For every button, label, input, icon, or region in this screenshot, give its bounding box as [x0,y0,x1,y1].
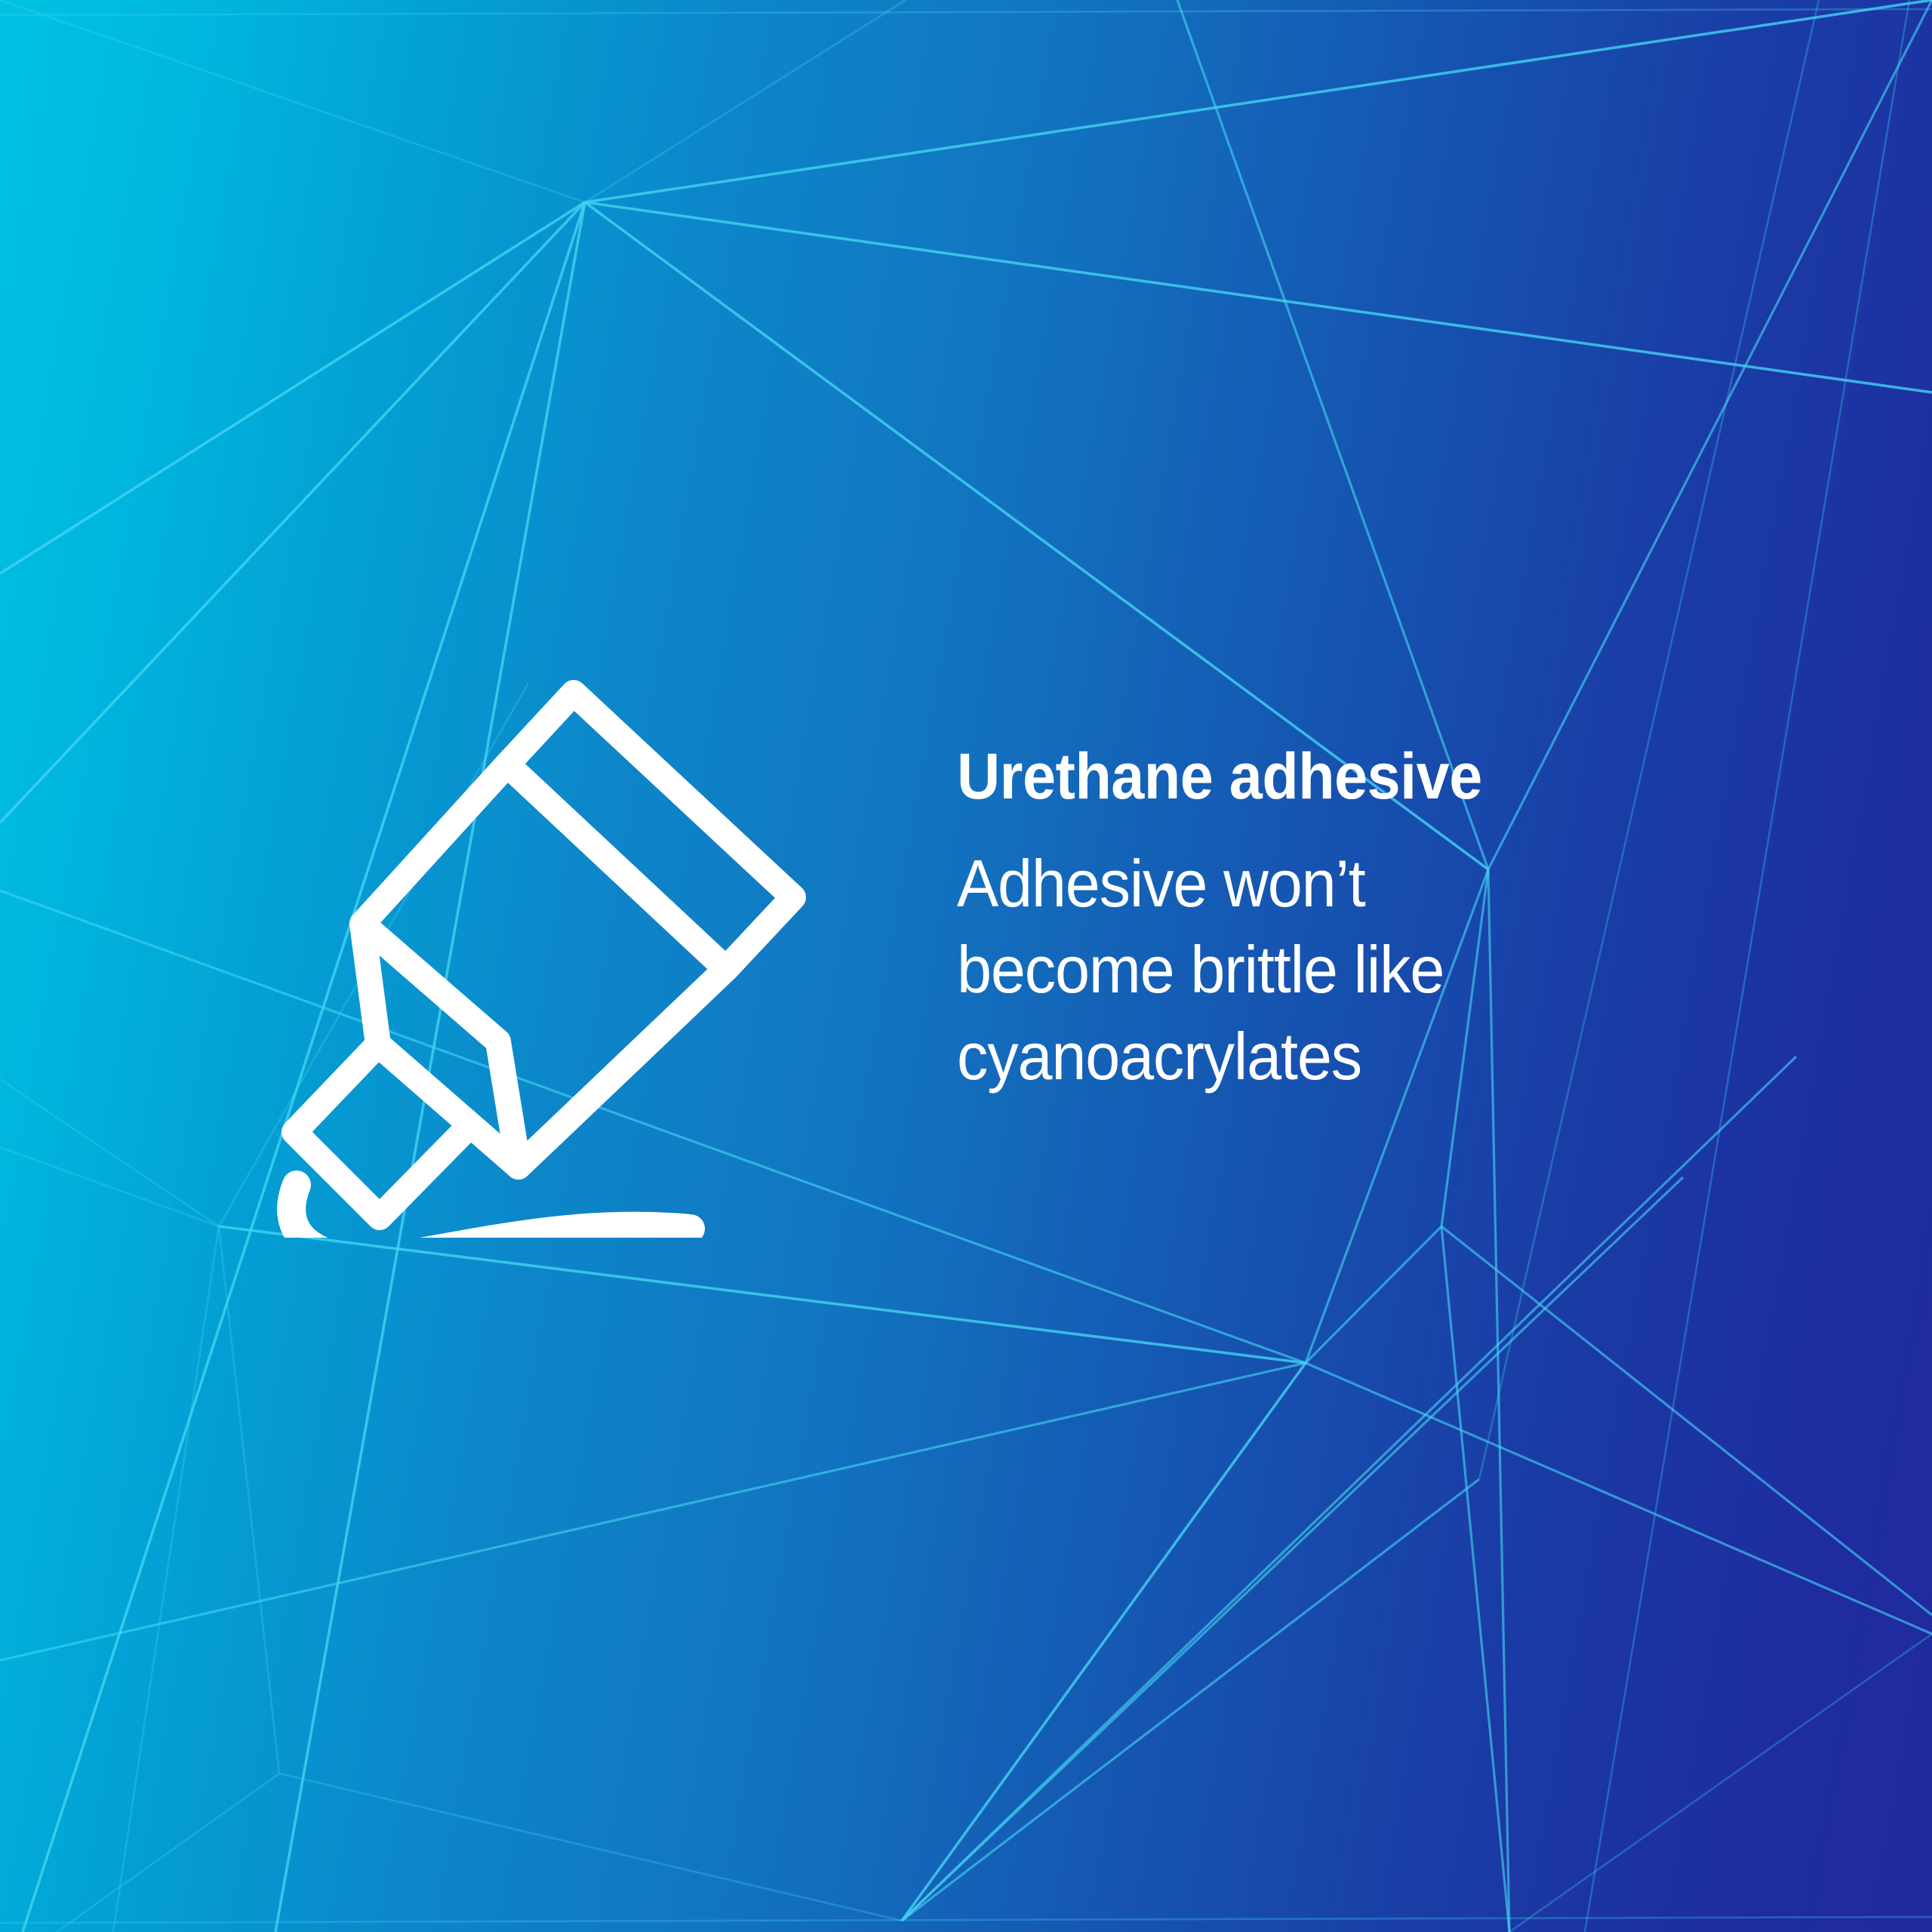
glue-tube-icon-svg [268,664,826,1238]
feature-card: Urethane adhesive Adhesive won’t become … [0,0,1932,1932]
text-block: Urethane adhesive Adhesive won’t become … [957,744,1757,1100]
card-description-line-2: become brittle like [957,927,1709,1013]
tube-cap-shape [507,693,793,969]
tube-nozzle-shape [294,1044,466,1217]
card-description-line-1: Adhesive won’t [957,841,1709,927]
glue-tube-icon [268,664,826,1238]
card-title: Urethane adhesive [957,744,1693,811]
card-description: Adhesive won’t become brittle like cyano… [957,841,1709,1100]
card-description-line-3: cyanoacrylates [957,1014,1709,1100]
